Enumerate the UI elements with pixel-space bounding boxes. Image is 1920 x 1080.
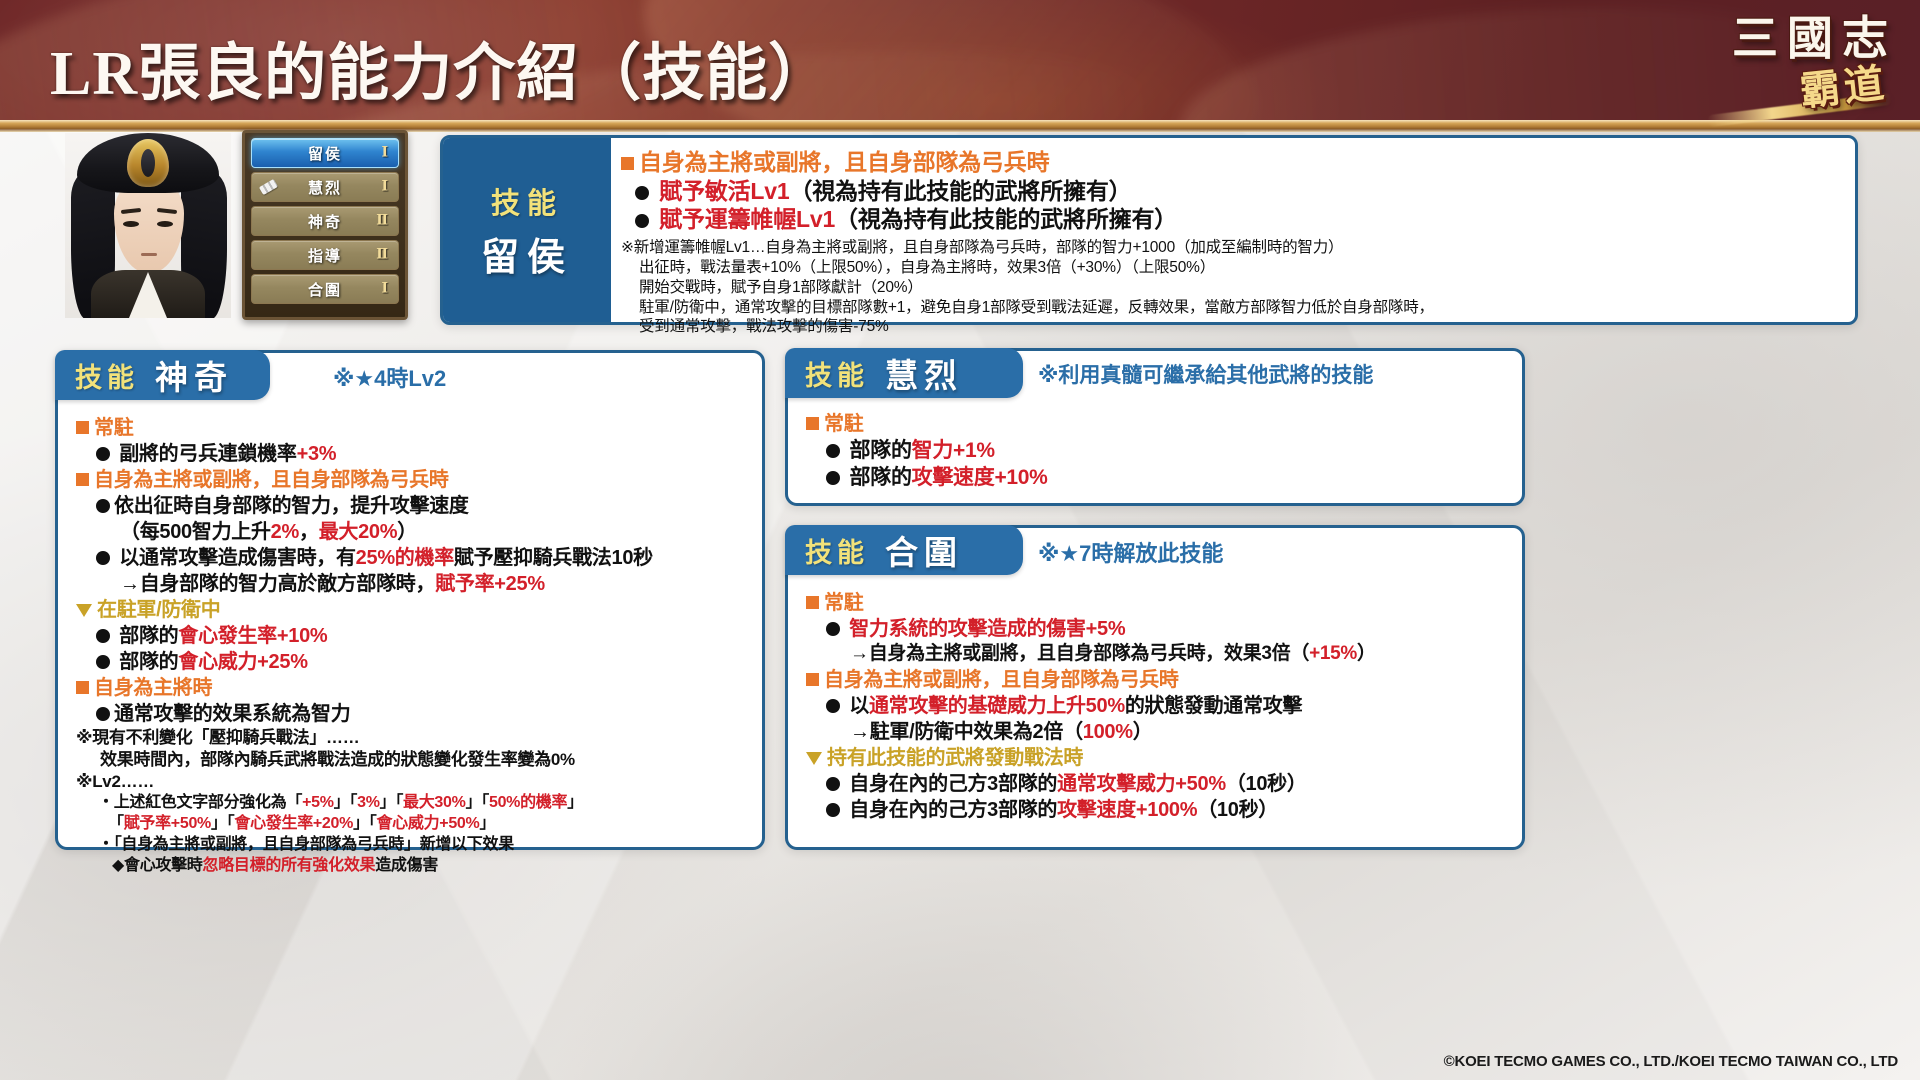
skill-note-line: 效果時間內，部隊內騎兵武將戰法造成的狀態變化發生率變為0% [76, 749, 752, 771]
effect-highlight: 賦予運籌帷幄Lv1 [659, 206, 835, 232]
skill-card-name: 神奇 [155, 351, 233, 399]
effect-highlight: 最大20% [319, 521, 398, 543]
effect-line: →駐軍/防衛中效果為2倍（100%） [806, 719, 1512, 745]
effect-text: →自身部隊的智力高於敵方部隊時， [120, 573, 435, 595]
effect-text: 副將的弓兵連鎖機率 [119, 443, 296, 465]
section-heading: 常駐 [806, 590, 1512, 616]
effect-highlight: 2% [271, 521, 299, 543]
note-highlight: 3% [357, 794, 380, 811]
effect-text: 以 [849, 695, 869, 717]
game-logo: 三 國 志 霸 道 [1668, 6, 1898, 134]
skill-note-line: ※現有不利變化「壓抑騎兵戰法」…… [76, 727, 752, 749]
note-text: 」「 [353, 815, 376, 832]
effect-text: →自身為主將或副將，且自身部隊為弓兵時，效果3倍（ [850, 643, 1309, 664]
effect-text: 賦予壓抑騎兵戰法10秒 [454, 547, 653, 569]
skill-card-name: 慧烈 [885, 349, 963, 397]
skill-tab-keyword: 技能 [491, 180, 563, 222]
skill-tab-name: 留侯 [481, 226, 573, 281]
note-highlight: 會心發生率+20% [234, 815, 353, 832]
skill-list-item-huilie[interactable]: 慧烈 Ⅰ [251, 172, 399, 202]
skill-card-huilie: 技能 慧烈 ※利用真髓可繼承給其他武將的技能 常駐 部隊的智力+1% 部隊的攻擊… [785, 348, 1525, 506]
logo-char: 志 [1840, 14, 1890, 64]
effect-highlight: 25%的機率 [356, 547, 454, 569]
section-heading: 自身為主將或副將，且自身部隊為弓兵時 [76, 467, 752, 493]
section-heading: 常駐 [76, 415, 752, 441]
skill-effect-line: 賦予運籌帷幄Lv1（視為持有此技能的武將所擁有） [621, 205, 1845, 233]
skill-list-item-label: 指導 [308, 245, 342, 266]
skill-note-line: ・「自身為主將或副將，且自身部隊為弓兵時」新增以下效果 [76, 835, 752, 856]
skill-card-keyword: 技能 [805, 531, 869, 570]
skill-list-item-label: 合圍 [308, 279, 342, 300]
skill-list-item-label: 慧烈 [308, 177, 342, 198]
skill-rank-badge: Ⅰ [381, 179, 389, 196]
effect-text: 部隊的 [119, 651, 178, 673]
effect-text: 部隊的 [119, 625, 178, 647]
copyright-notice: ©KOEI TECMO GAMES CO., LTD./KOEI TECMO T… [1444, 1053, 1898, 1070]
section-heading: 常駐 [806, 411, 1512, 437]
effect-text: ， [299, 521, 319, 543]
skill-card-shenqi: 技能 神奇 ※★4時Lv2 常駐 副將的弓兵連鎖機率+3% 自身為主將或副將，且… [55, 350, 765, 850]
skill-list-item-shenqi[interactable]: 神奇 Ⅱ [251, 206, 399, 236]
note-text: 「 [108, 815, 124, 832]
portrait-eye [157, 221, 173, 227]
logo-title-main: 三 國 志 [1730, 14, 1890, 64]
note-highlight: 會心威力+50% [376, 815, 479, 832]
skill-card-header: 技能 合圍 [785, 525, 1023, 575]
note-text: ・上述紅色文字部分強化為「 [98, 794, 302, 811]
skill-note-line: 駐軍/防衛中，通常攻擊的目標部隊數+1，避免自身1部隊受到戰法延遲，反轉效果，當… [621, 298, 1845, 318]
effect-text: （10秒） [1226, 773, 1307, 795]
header-gold-rule [0, 120, 1920, 129]
section-heading: 自身為主將時 [76, 675, 752, 701]
skill-rank-badge: Ⅰ [381, 145, 389, 162]
note-highlight: 最大30% [403, 794, 466, 811]
effect-highlight: 賦予敏活Lv1 [659, 178, 789, 204]
skill-panel-tab: 技能 留侯 [443, 138, 611, 322]
skill-rank-badge: Ⅱ [376, 247, 389, 264]
effect-line: 副將的弓兵連鎖機率+3% [76, 441, 752, 467]
skill-effect-line: 賦予敏活Lv1（視為持有此技能的武將所擁有） [621, 177, 1845, 205]
effect-text: （10秒） [1197, 799, 1278, 821]
skill-list-item-liuhou[interactable]: 留侯 Ⅰ [251, 138, 399, 168]
skill-card-heyu: 技能 合圍 ※★7時解放此技能 常駐 智力系統的攻擊造成的傷害+5% →自身為主… [785, 525, 1525, 850]
skill-card-keyword: 技能 [75, 356, 139, 395]
effect-line: →自身為主將或副將，且自身部隊為弓兵時，效果3倍（+15%） [806, 642, 1512, 667]
skill-list-item-zhidao[interactable]: 指導 Ⅱ [251, 240, 399, 270]
portrait-mouth [141, 253, 157, 256]
portrait-eye [123, 221, 139, 227]
logo-char: 霸 [1798, 68, 1842, 112]
character-portrait [65, 133, 231, 318]
effect-highlight: 會心威力+25% [178, 651, 307, 673]
note-highlight: +5% [302, 794, 334, 811]
portrait-hat-ornament [127, 139, 169, 187]
effect-highlight: 通常攻擊威力+50% [1057, 773, 1226, 795]
skill-panel-body: 自身為主將或副將，且自身部隊為弓兵時 賦予敏活Lv1（視為持有此技能的武將所擁有… [621, 148, 1845, 316]
note-text: 造成傷害 [375, 857, 438, 874]
skill-note-line: 出征時，戰法量表+10%（上限50%），自身為主將時，效果3倍（+30%）（上限… [621, 258, 1845, 278]
skill-card-note: ※★7時解放此技能 [1038, 536, 1223, 568]
portrait-collar [91, 270, 205, 318]
skill-list[interactable]: 留侯 Ⅰ 慧烈 Ⅰ 神奇 Ⅱ 指導 Ⅱ 合圍 Ⅰ [242, 130, 408, 320]
effect-highlight: +3% [297, 443, 337, 465]
effect-highlight: 通常攻擊的基礎威力上升50% [869, 695, 1125, 717]
page-title: LR張良的能力介紹（技能） [50, 22, 831, 112]
skill-card-keyword: 技能 [805, 354, 869, 393]
skill-card-name: 合圍 [885, 526, 963, 574]
note-text: 」「 [334, 794, 357, 811]
effect-highlight: 智力系統的攻擊造成的傷害+5% [849, 618, 1125, 640]
effect-highlight: 100% [1083, 721, 1133, 743]
skill-note-line: 開始交戰時，賦予自身1部隊獻計（20%） [621, 278, 1845, 298]
skill-rank-badge: Ⅰ [381, 281, 389, 298]
logo-char: 三 [1730, 14, 1780, 64]
note-highlight: 賦予率+50% [124, 815, 211, 832]
effect-text: 部隊的 [850, 466, 912, 489]
skill-note-line: 受到通常攻擊，戰法攻擊的傷害-75% [621, 317, 1845, 337]
section-heading: 自身為主將或副將，且自身部隊為弓兵時 [806, 667, 1512, 693]
effect-highlight: +15% [1309, 643, 1357, 664]
logo-char: 國 [1785, 14, 1835, 64]
effect-line: 部隊的智力+1% [806, 437, 1512, 464]
skill-card-header: 技能 慧烈 [785, 348, 1023, 398]
effect-text: 自身在內的己方3部隊的 [849, 773, 1057, 795]
logo-title-sub: 霸 道 [1798, 64, 1886, 113]
note-text: 」「 [211, 815, 234, 832]
effect-text: ） [1133, 721, 1153, 743]
logo-char: 道 [1842, 64, 1886, 108]
skill-note-line: ※新增運籌帷幄Lv1…自身為主將或副將，且自身部隊為弓兵時，部隊的智力+1000… [621, 238, 1845, 258]
note-highlight: 忽略目標的所有強化效果 [203, 857, 376, 874]
note-text: ◆會心攻擊時 [112, 857, 203, 874]
skill-card-body: 常駐 副將的弓兵連鎖機率+3% 自身為主將或副將，且自身部隊為弓兵時 依出征時自… [76, 415, 752, 876]
skill-note-line: 「賦予率+50%」「會心發生率+20%」「會心威力+50%」 [76, 814, 752, 835]
effect-text: ） [397, 521, 417, 543]
effect-text: （視為持有此技能的武將所擁有） [835, 206, 1177, 232]
skill-card-note: ※★4時Lv2 [333, 361, 446, 393]
effect-highlight: 賦予率+25% [435, 573, 545, 595]
note-text: 」「 [466, 794, 489, 811]
note-highlight: 50%的機率 [489, 794, 567, 811]
section-heading: 在駐軍/防衛中 [76, 597, 752, 623]
skill-rank-badge: Ⅱ [376, 213, 389, 230]
effect-text: （視為持有此技能的武將所擁有） [789, 178, 1131, 204]
effect-highlight: 會心發生率+10% [178, 625, 327, 647]
effect-text: 的狀態發動通常攻擊 [1125, 695, 1302, 717]
effect-line: 依出征時自身部隊的智力，提升攻擊速度 [76, 493, 752, 519]
skill-card-note: ※利用真髓可繼承給其他武將的技能 [1038, 359, 1373, 389]
skill-card-header: 技能 神奇 [55, 350, 270, 400]
skill-note-line: ・上述紅色文字部分強化為「+5%」「3%」「最大30%」「50%的機率」 [76, 793, 752, 814]
skill-condition-heading: 自身為主將或副將，且自身部隊為弓兵時 [621, 148, 1845, 176]
effect-highlight: 攻擊速度+100% [1057, 799, 1197, 821]
effect-text: （每500智力上升 [120, 521, 271, 543]
skill-card-body: 常駐 智力系統的攻擊造成的傷害+5% →自身為主將或副將，且自身部隊為弓兵時，效… [806, 590, 1512, 823]
note-text: 」 [567, 794, 583, 811]
effect-line: （每500智力上升2%，最大20%） [76, 519, 752, 545]
effect-line: 部隊的會心發生率+10% [76, 623, 752, 649]
effect-line: 通常攻擊的效果系統為智力 [76, 701, 752, 727]
effect-line: 自身在內的己方3部隊的通常攻擊威力+50%（10秒） [806, 771, 1512, 797]
effect-line: →自身部隊的智力高於敵方部隊時，賦予率+25% [76, 571, 752, 597]
effect-highlight: 智力+1% [912, 439, 995, 462]
effect-line: 自身在內的己方3部隊的攻擊速度+100%（10秒） [806, 797, 1512, 823]
note-text: 」 [479, 815, 495, 832]
effect-line: 以通常攻擊的基礎威力上升50%的狀態發動通常攻擊 [806, 693, 1512, 719]
effect-line: 智力系統的攻擊造成的傷害+5% [806, 616, 1512, 642]
skill-list-item-label: 神奇 [308, 211, 342, 232]
effect-highlight: 攻擊速度+10% [912, 466, 1048, 489]
effect-line: 部隊的會心威力+25% [76, 649, 752, 675]
skill-list-item-label: 留侯 [308, 143, 342, 164]
effect-line: 部隊的攻擊速度+10% [806, 464, 1512, 491]
effect-text: ） [1357, 643, 1376, 664]
effect-text: 自身在內的己方3部隊的 [849, 799, 1057, 821]
skill-card-body: 常駐 部隊的智力+1% 部隊的攻擊速度+10% [806, 411, 1512, 492]
note-text: 」「 [380, 794, 403, 811]
effect-line: 以通常攻擊造成傷害時，有25%的機率賦予壓抑騎兵戰法10秒 [76, 545, 752, 571]
skill-panel-liuhou: 技能 留侯 自身為主將或副將，且自身部隊為弓兵時 賦予敏活Lv1（視為持有此技能… [440, 135, 1858, 325]
skill-list-item-heyu[interactable]: 合圍 Ⅰ [251, 274, 399, 304]
effect-text: 以通常攻擊造成傷害時，有 [119, 547, 355, 569]
effect-text: →駐軍/防衛中效果為2倍（ [850, 721, 1083, 743]
skill-note-heading: ※Lv2…… [76, 771, 752, 793]
inherit-icon [259, 179, 278, 195]
section-heading: 持有此技能的武將發動戰法時 [806, 745, 1512, 771]
skill-note-line: ◆會心攻擊時忽略目標的所有強化效果造成傷害 [76, 856, 752, 877]
effect-text: 部隊的 [850, 439, 912, 462]
